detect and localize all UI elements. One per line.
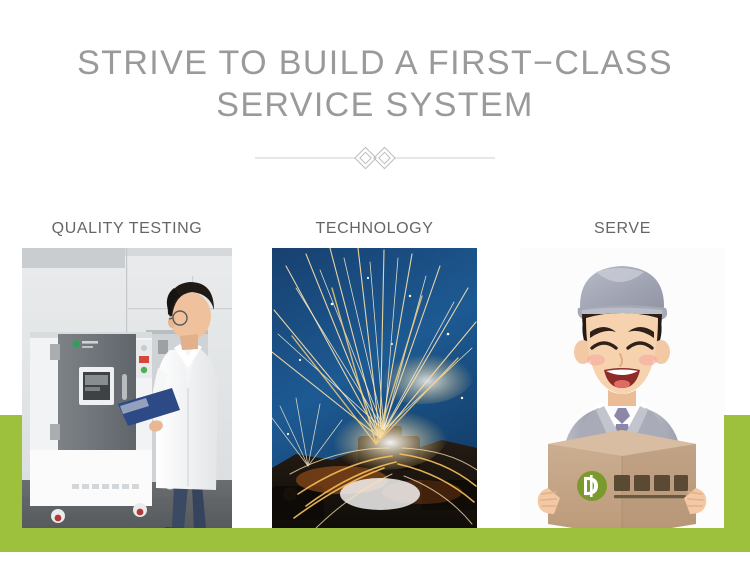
delivery-man-illustration: [520, 248, 725, 548]
page-title: STRIVE TO BUILD A FIRST−CLASS SERVICE SY…: [0, 42, 750, 126]
section-caption-quality-testing: QUALITY TESTING: [22, 220, 232, 238]
green-accent-bottom: [0, 528, 750, 552]
section-divider-ornament: [255, 142, 495, 174]
lab-technician-testing-chamber-photo: [22, 248, 232, 548]
section-caption-technology: TECHNOLOGY: [272, 220, 477, 238]
page-root: STRIVE TO BUILD A FIRST−CLASS SERVICE SY…: [0, 0, 750, 574]
section-caption-serve: SERVE: [520, 220, 725, 238]
lab-photo-svg: [22, 248, 232, 548]
welding-sparks-photo: [272, 248, 477, 548]
welding-photo-svg: [272, 248, 477, 548]
divider-svg: [255, 142, 495, 174]
delivery-man-svg: [520, 248, 725, 548]
